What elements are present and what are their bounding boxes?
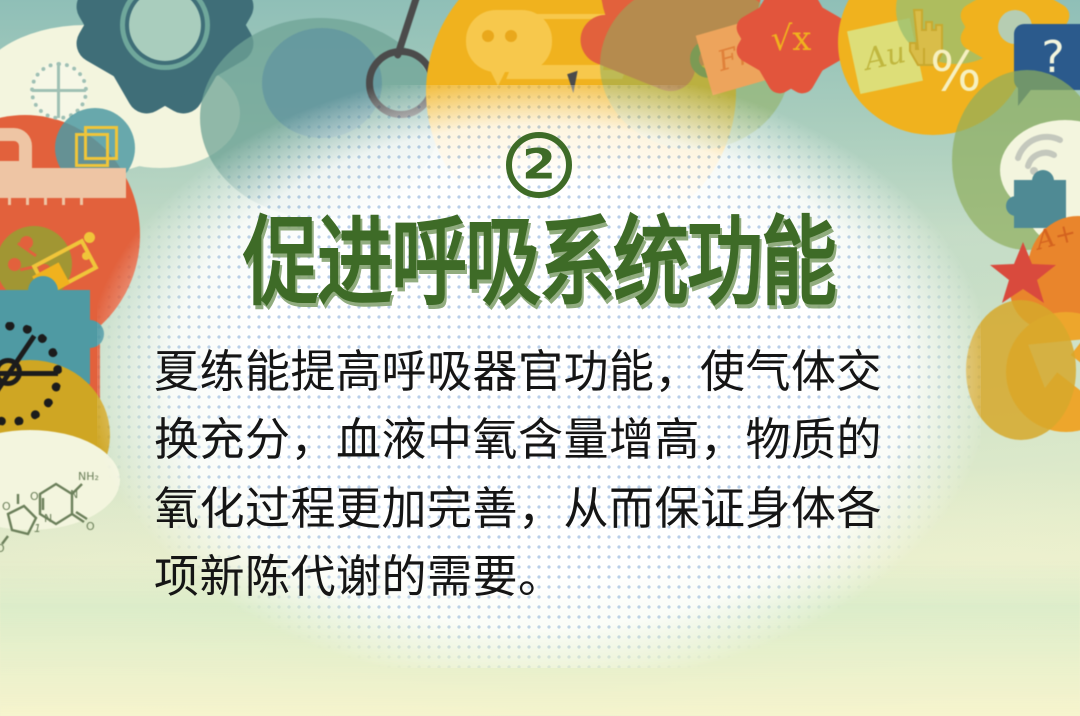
ruler-tick [8, 189, 11, 205]
svg-text:O: O [2, 500, 11, 513]
puzzle-knob [1006, 196, 1026, 216]
small-wheel-spoke [57, 64, 60, 118]
step-number-badge: 2 [506, 132, 572, 198]
poster-canvas: NH₂ N N O O O O 1 Fr √x [0, 0, 1080, 716]
ruler-tick [26, 189, 29, 205]
bubble-dot [505, 30, 517, 42]
gold-circle [966, 300, 1076, 440]
dot-accent [84, 232, 95, 243]
bubble-dot [482, 30, 494, 42]
dot-accent [82, 252, 90, 260]
number-two-shape [0, 128, 32, 174]
badge-number-label: 2 [499, 130, 580, 199]
ruler-tick [44, 189, 47, 205]
page-title: 促进呼吸系统功能 [243, 214, 835, 311]
svg-text:NH₂: NH₂ [78, 470, 99, 483]
svg-text:O: O [0, 542, 5, 555]
wifi-icon [1012, 128, 1072, 176]
ruler-tick [80, 189, 83, 205]
body-paragraph: 夏练能提高呼吸器官功能，使气体交换充分，血液中氧含量增高，物质的氧化过程更加完善… [154, 338, 924, 612]
svg-text:N: N [44, 512, 52, 525]
share-node [8, 258, 21, 271]
svg-text:O: O [30, 490, 39, 503]
puzzle-knob [1032, 170, 1054, 192]
svg-text:1: 1 [34, 522, 41, 535]
ruler-tick [62, 189, 65, 205]
sqrt-gear-label: √x [748, 0, 834, 82]
svg-text:O: O [86, 520, 95, 533]
star-icon [988, 238, 1058, 308]
teal-puzzle-knob [28, 276, 58, 306]
svg-text:N: N [70, 488, 78, 501]
speech-bubble-tail [486, 62, 510, 86]
content-card-body: 2 促进呼吸系统功能 夏练能提高呼吸器官功能，使气体交换充分，血液中氧含量增高，… [97, 85, 981, 668]
